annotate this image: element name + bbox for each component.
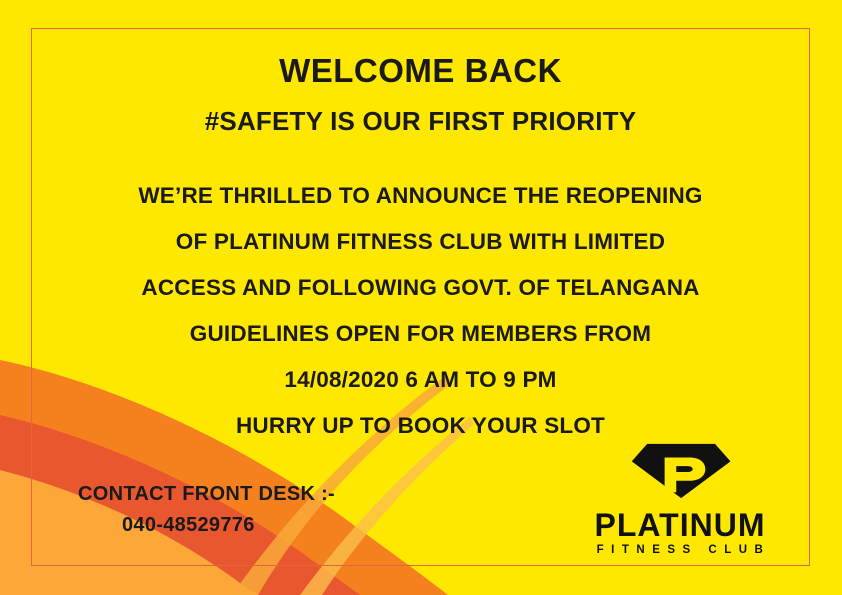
body-line: GUIDELINES OPEN FOR MEMBERS FROM <box>31 311 810 357</box>
brand-logo: PLATINUM FITNESS CLUB <box>564 440 796 556</box>
promo-poster: WELCOME BACK #SAFETY IS OUR FIRST PRIORI… <box>0 0 842 595</box>
logo-subtitle: FITNESS CLUB <box>571 544 796 556</box>
contact-block: CONTACT FRONT DESK :- 040-48529776 <box>78 483 335 537</box>
body-line: OF PLATINUM FITNESS CLUB WITH LIMITED <box>31 219 810 265</box>
logo-name: PLATINUM <box>564 509 796 541</box>
subtitle: #SAFETY IS OUR FIRST PRIORITY <box>31 106 810 137</box>
announcement-body: WE’RE THRILLED TO ANNOUNCE THE REOPENING… <box>31 173 810 449</box>
contact-phone-number: 040-48529776 <box>122 514 335 537</box>
page-title: WELCOME BACK <box>31 52 810 90</box>
body-line: WE’RE THRILLED TO ANNOUNCE THE REOPENING <box>31 173 810 219</box>
diamond-logo-icon <box>622 440 738 502</box>
body-line: ACCESS AND FOLLOWING GOVT. OF TELANGANA <box>31 265 810 311</box>
body-line: 14/08/2020 6 AM TO 9 PM <box>31 357 810 403</box>
poster-content: WELCOME BACK #SAFETY IS OUR FIRST PRIORI… <box>31 28 810 566</box>
contact-label: CONTACT FRONT DESK :- <box>78 483 335 506</box>
